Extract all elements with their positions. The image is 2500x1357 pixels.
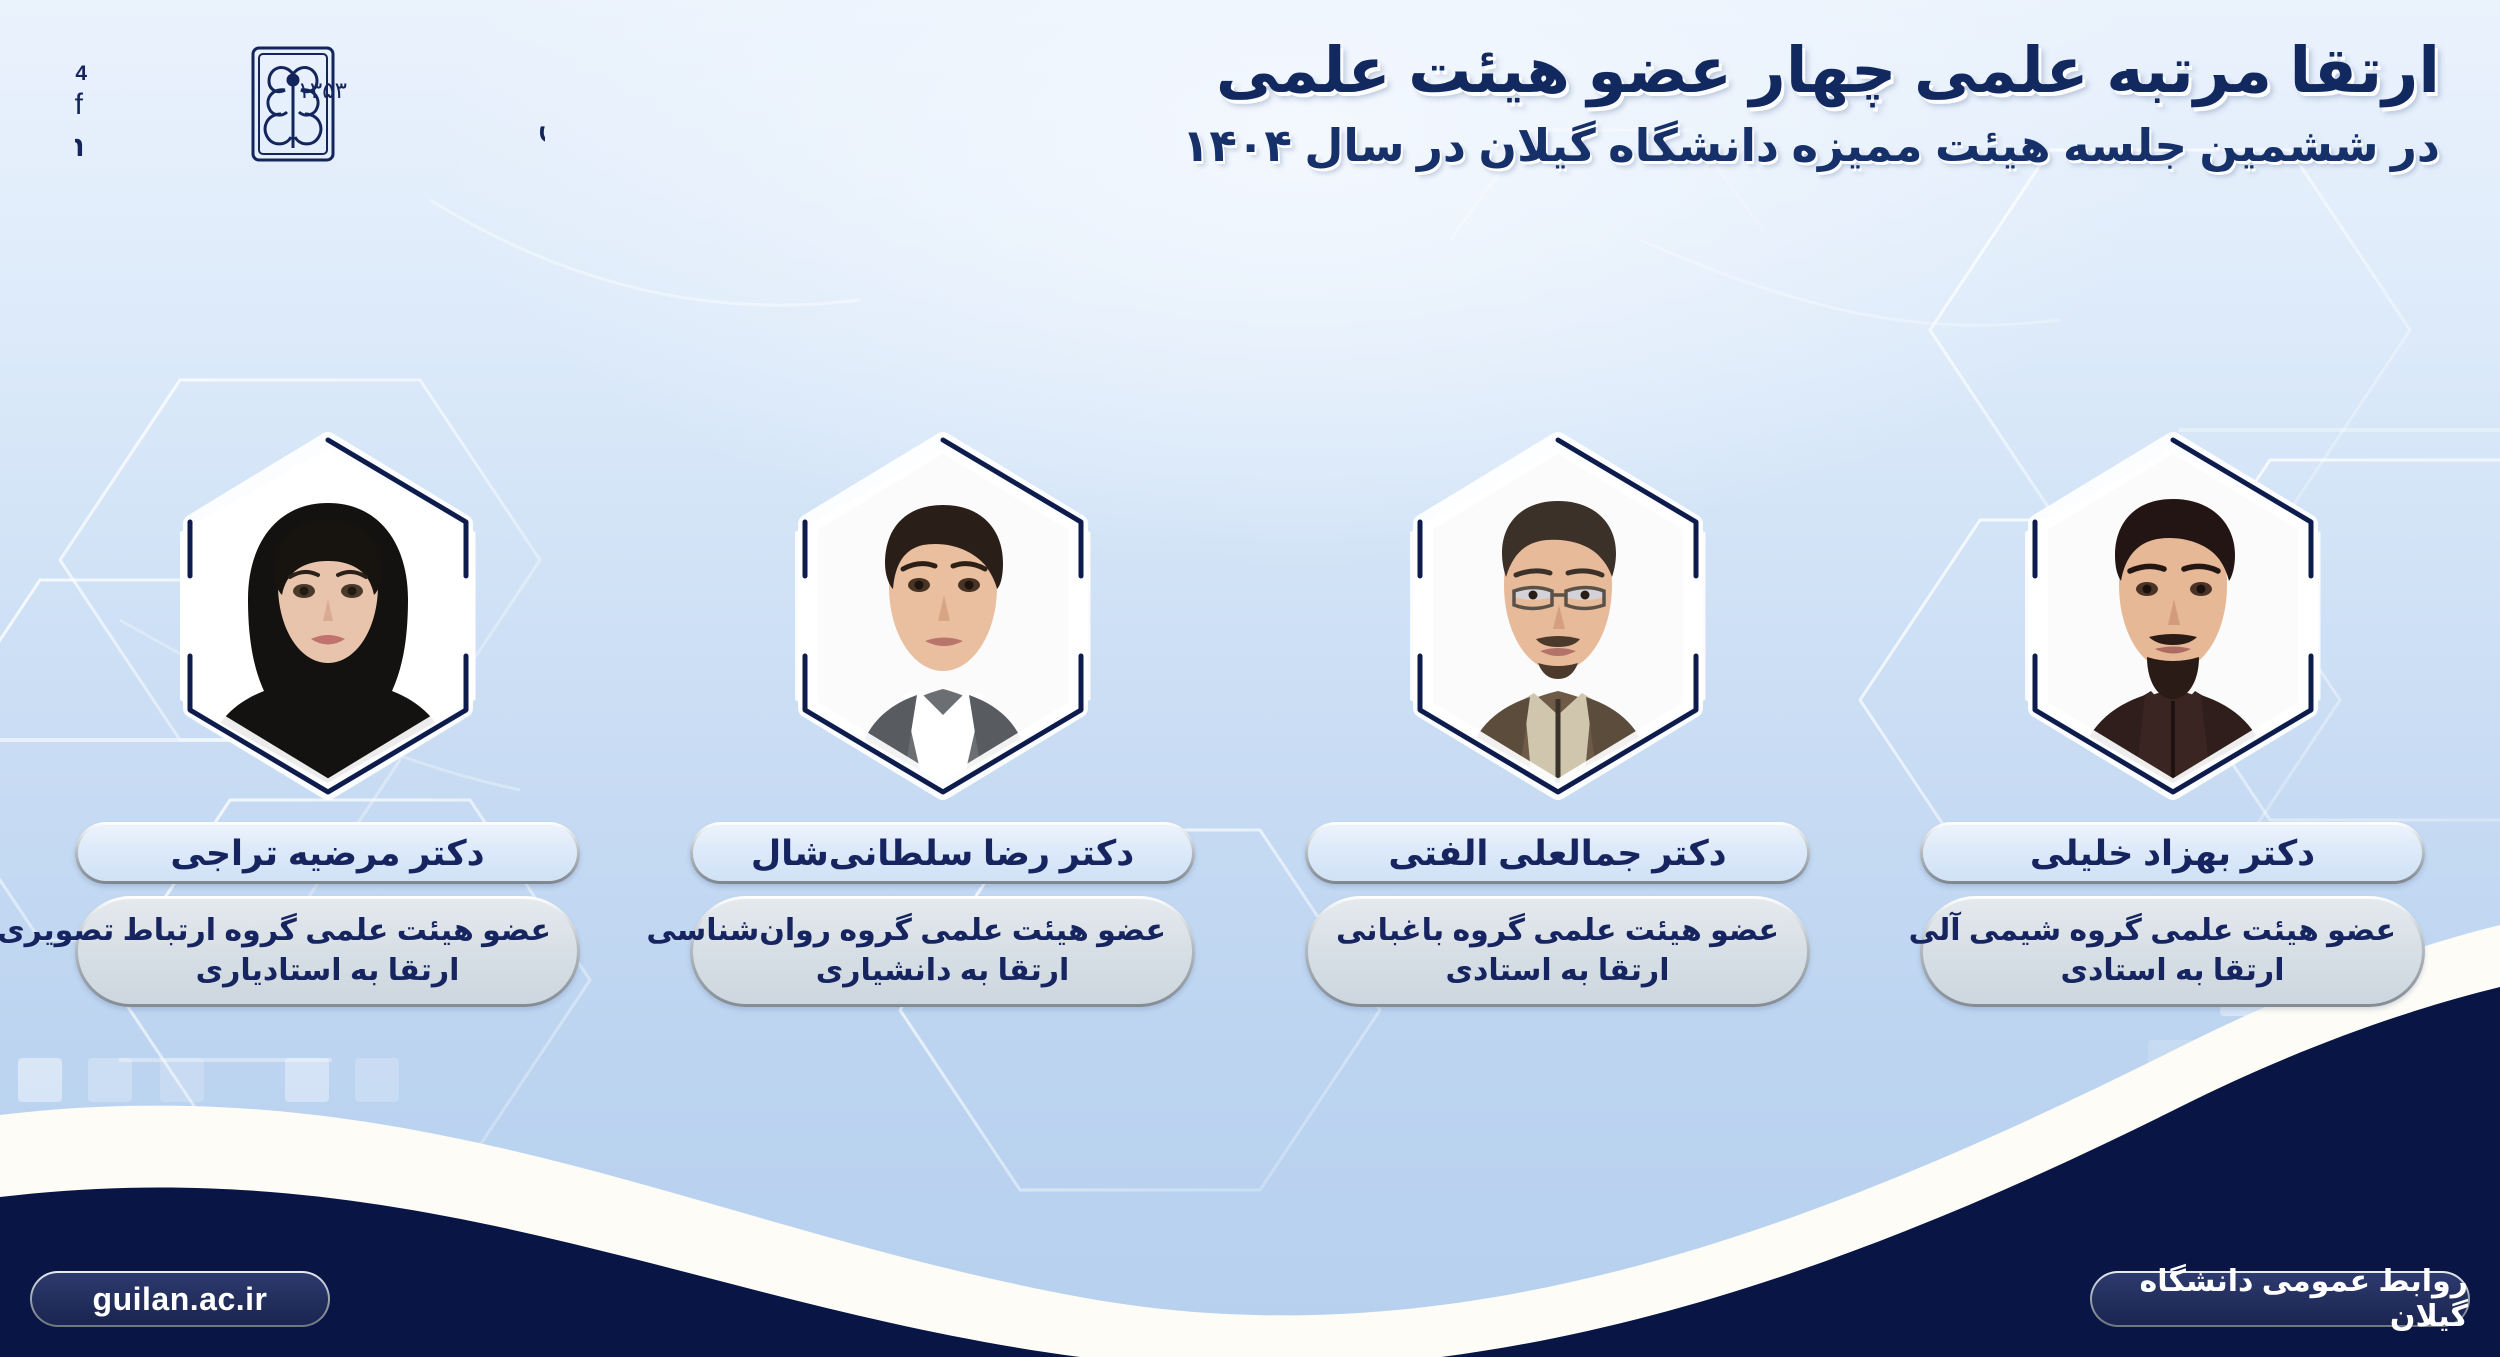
portrait-frame [1393, 432, 1723, 800]
website-link[interactable]: guilan.ac.ir [30, 1271, 330, 1327]
person-role: عضو هیئت علمی گروه شیمی آلی ارتقا به است… [1920, 896, 2425, 1007]
page-subtitle: در ششمین جلسه هیئت ممیزه دانشگاه گیلان د… [960, 118, 2440, 174]
portrait-frame [778, 432, 1108, 800]
person-role-line2: ارتقا به استادی [1334, 951, 1781, 991]
page-title: ارتقا مرتبه علمی چهار عضو هیئت علمی [960, 34, 2440, 108]
person-name: دکتر بهزاد خلیلی [1920, 822, 2425, 884]
person-role-line2: ارتقا به دانشیاری [719, 951, 1166, 991]
person-name: دکتر جمالعلی الفتی [1305, 822, 1810, 884]
person-role: عضو هیئت علمی گروه باغبانی ارتقا به استا… [1305, 896, 1810, 1007]
guilan-emblem-icon [253, 48, 333, 160]
person-role-line1: عضو هیئت علمی گروه روان‌شناسی [719, 911, 1166, 951]
person-role-line2: ارتقا به استادی [1949, 951, 2396, 991]
logo-english-line2: Guilan [75, 127, 89, 163]
person-name: دکتر رضا سلطانی‌شال [690, 822, 1195, 884]
person-card: دکتر بهزاد خلیلی عضو هیئت علمی گروه شیمی… [1895, 432, 2450, 1007]
person-card: دکتر جمالعلی الفتی عضو هیئت علمی گروه با… [1280, 432, 1835, 1007]
person-role-line1: عضو هیئت علمی گروه باغبانی [1334, 911, 1781, 951]
person-role: عضو هیئت علمی گروه ارتباط تصویری ارتقا ب… [75, 896, 580, 1007]
logo-english-line1: University of [75, 88, 84, 121]
person-name: دکتر مرضیه تراجی [75, 822, 580, 884]
person-card: دکتر رضا سلطانی‌شال عضو هیئت علمی گروه ر… [665, 432, 1220, 1007]
person-card: دکتر مرضیه تراجی عضو هیئت علمی گروه ارتب… [50, 432, 605, 1007]
logo-year-latin: 1974 [75, 62, 87, 85]
person-role-line1: عضو هیئت علمی گروه شیمی آلی [1949, 911, 2396, 951]
logo-persian-name: دانشگاه گیلان [537, 97, 545, 146]
university-logo: 1974 University of Guilan ۱۳۵۳ دانشگاه گ… [75, 28, 545, 178]
person-role-line1: عضو هیئت علمی گروه ارتباط تصویری [104, 911, 551, 951]
portrait-frame [163, 432, 493, 800]
person-role-line2: ارتقا به استادیاری [104, 951, 551, 991]
header-titles: ارتقا مرتبه علمی چهار عضو هیئت علمی در ش… [960, 34, 2440, 175]
logo-year-persian: ۱۳۵۳ [298, 78, 347, 104]
poster-canvas: 1974 University of Guilan ۱۳۵۳ دانشگاه گ… [0, 0, 2500, 1357]
people-row: دکتر مرضیه تراجی عضو هیئت علمی گروه ارتب… [0, 432, 2500, 992]
public-relations-label: روابط عمومی دانشگاه گیلان [2090, 1271, 2470, 1327]
portrait-frame [2008, 432, 2338, 800]
person-role: عضو هیئت علمی گروه روان‌شناسی ارتقا به د… [690, 896, 1195, 1007]
